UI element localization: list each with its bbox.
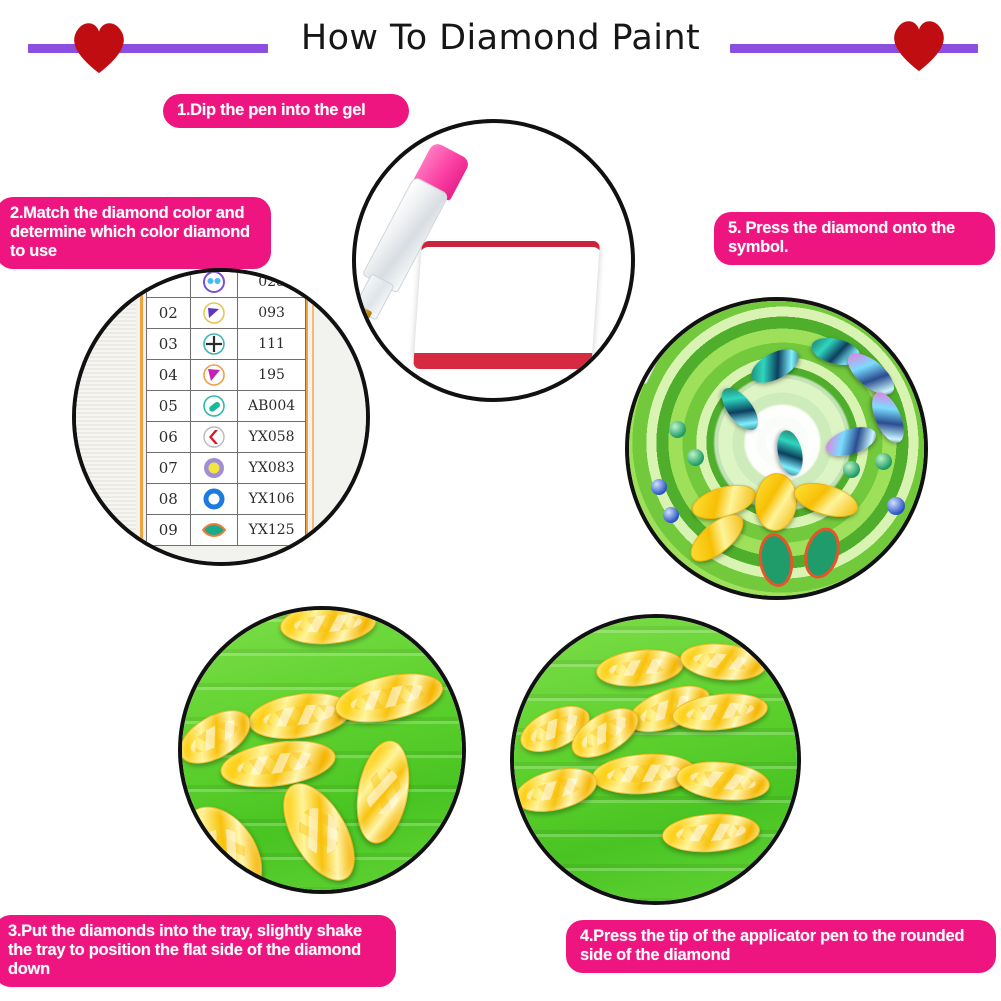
table-row: 02 093 [147, 298, 306, 329]
header-banner: How To Diamond Paint [0, 0, 1001, 88]
legend-number: 04 [147, 360, 191, 391]
legend-symbol-cell [190, 515, 238, 546]
legend-number: 09 [147, 515, 191, 546]
blue-ring-icon [201, 486, 227, 512]
purple-triangle-icon [201, 300, 227, 326]
legend-code: 093 [238, 298, 306, 329]
table-row: 09 YX125 [147, 515, 306, 546]
table-row: 04 195 [147, 360, 306, 391]
table-row: 05 AB004 [147, 391, 306, 422]
legend-number: 02 [147, 298, 191, 329]
canvas-dot [663, 507, 679, 523]
step-3-label: 3.Put the diamonds into the tray, slight… [0, 915, 396, 987]
yellow-dot-ring-icon [201, 455, 227, 481]
table-row: 08 YX106 [147, 484, 306, 515]
table-row: 03 111 [147, 329, 306, 360]
legend-symbol-cell [190, 484, 238, 515]
gel-pad [414, 241, 600, 357]
step-4-scene [514, 618, 797, 901]
legend-number: 05 [147, 391, 191, 422]
step-5-label: 5. Press the diamond onto the symbol. [714, 212, 995, 265]
legend-number: 06 [147, 422, 191, 453]
legend-code: YX125 [238, 515, 306, 546]
canvas-orange-guide-3 [312, 272, 314, 562]
canvas-dot [875, 453, 892, 470]
canvas-dot [887, 497, 905, 515]
legend-number: 08 [147, 484, 191, 515]
legend-number: 03 [147, 329, 191, 360]
legend-symbol-cell [190, 272, 238, 298]
canvas-orange-guide-1 [140, 272, 143, 562]
legend-chart-photo: 028 02 093 03 [76, 272, 366, 562]
step-3-photo-bubble [178, 606, 466, 894]
legend-number [147, 272, 191, 298]
plus-cross-icon [201, 331, 227, 357]
red-arrow-left-icon [201, 424, 227, 450]
double-dot-circle-icon [201, 272, 227, 295]
magenta-wedge-icon [201, 362, 227, 388]
step-1-scene [356, 123, 631, 398]
legend-code: YX106 [238, 484, 306, 515]
step-5-scene [629, 301, 924, 596]
legend-symbol-cell [190, 298, 238, 329]
step-5-photo-bubble [625, 297, 928, 600]
legend-code: YX083 [238, 453, 306, 484]
step-2-label: 2.Match the diamond color and determine … [0, 197, 271, 269]
canvas-fabric-edge [76, 272, 136, 562]
legend-symbol-cell [190, 453, 238, 484]
legend-symbol-cell [190, 360, 238, 391]
table-row: 06 YX058 [147, 422, 306, 453]
canvas-dot [651, 479, 667, 495]
step-4-photo-bubble [510, 614, 801, 905]
step-2-photo-bubble: 028 02 093 03 [72, 268, 370, 566]
legend-code: 195 [238, 360, 306, 391]
step-3-scene [182, 610, 462, 890]
teal-pill-icon [201, 393, 227, 419]
legend-symbol-cell [190, 329, 238, 360]
legend-code: AB004 [238, 391, 306, 422]
teal-leaf-icon [201, 517, 227, 543]
table-row: 028 [147, 272, 306, 298]
step-2-scene: 028 02 093 03 [76, 272, 366, 562]
legend-code: 111 [238, 329, 306, 360]
symbol-legend-table: 028 02 093 03 [146, 272, 306, 546]
table-row: 07 YX083 [147, 453, 306, 484]
canvas-dot [669, 421, 686, 438]
step-1-photo-bubble [352, 119, 635, 402]
legend-number: 07 [147, 453, 191, 484]
canvas-dot [843, 461, 860, 478]
legend-symbol-cell [190, 422, 238, 453]
page-title: How To Diamond Paint [0, 18, 1001, 58]
step-4-label: 4.Press the tip of the applicator pen to… [566, 920, 996, 973]
step-1-label: 1.Dip the pen into the gel [163, 94, 409, 128]
legend-symbol-cell [190, 391, 238, 422]
canvas-dot [687, 449, 704, 466]
legend-code: YX058 [238, 422, 306, 453]
legend-code: 028 [238, 272, 306, 298]
